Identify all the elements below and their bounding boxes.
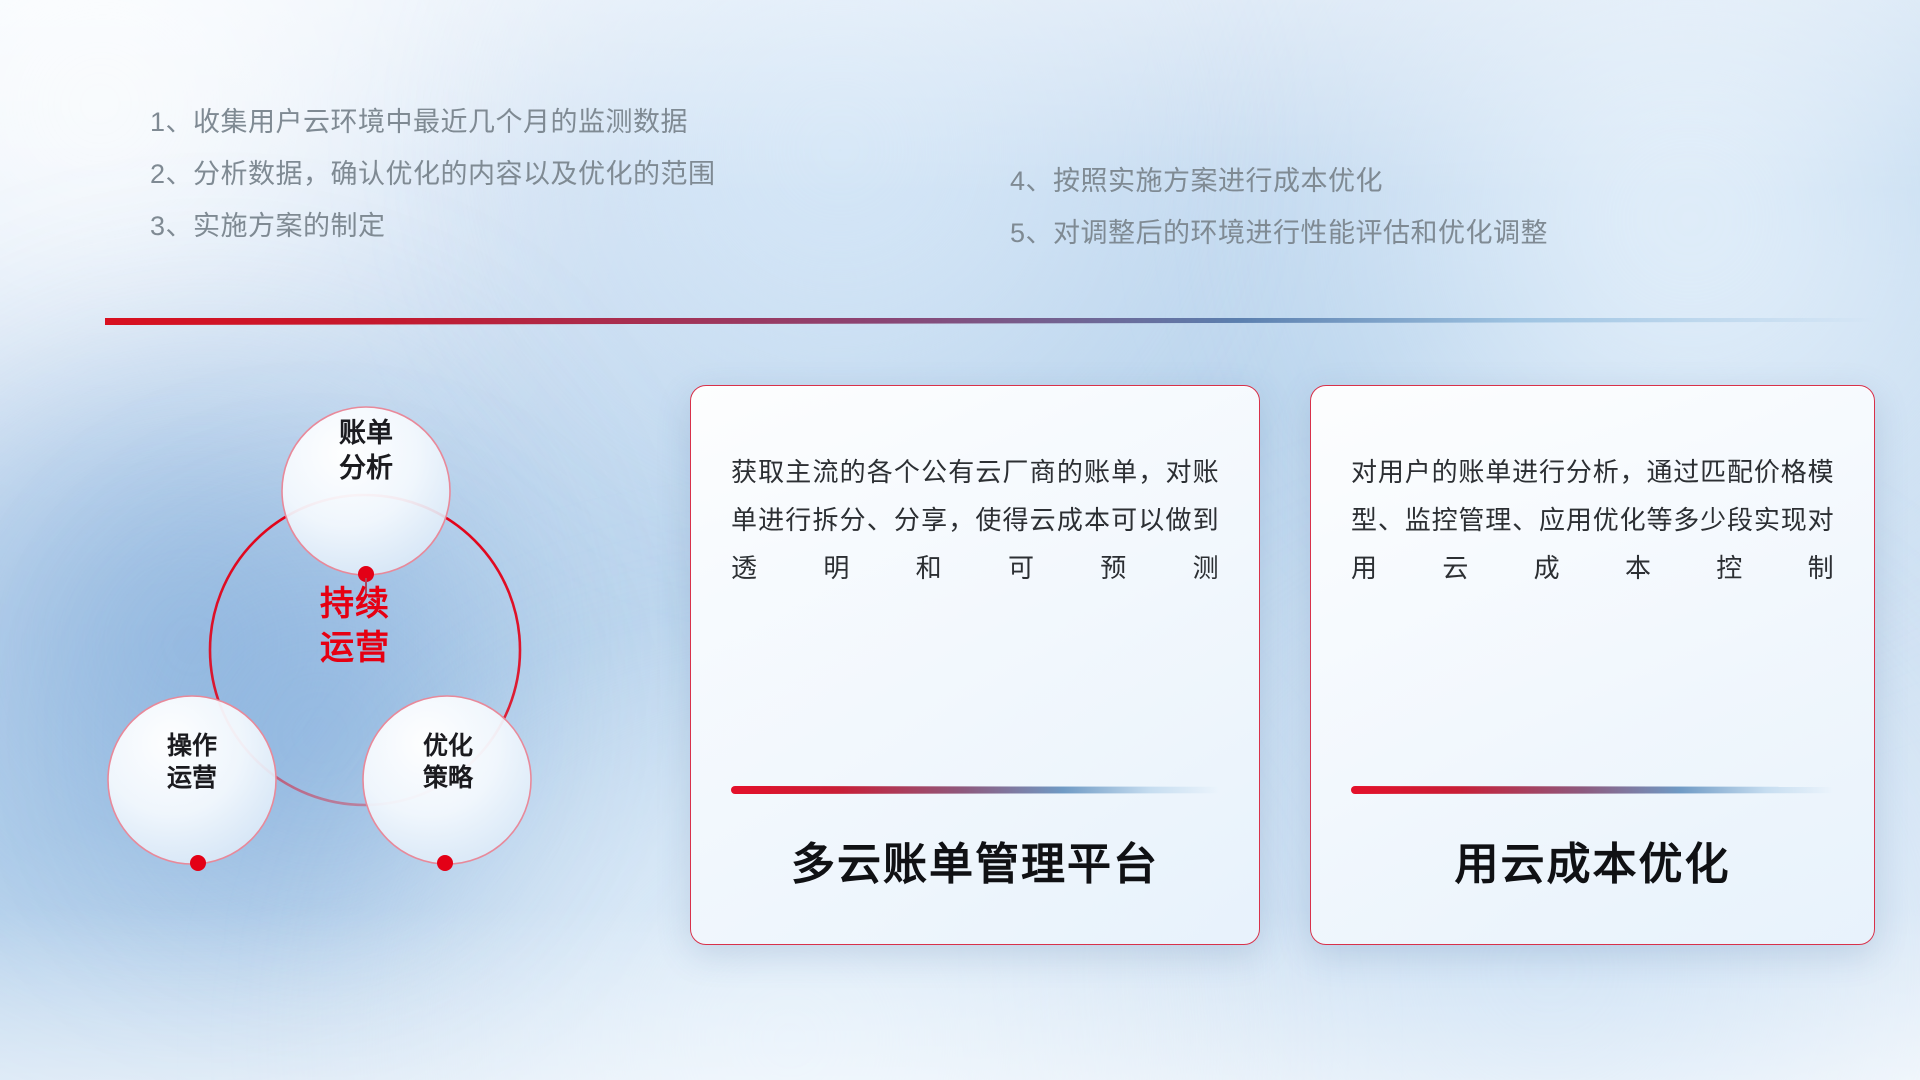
- node-label-billing-analysis: 账单 分析: [291, 416, 441, 485]
- section-divider: [105, 318, 1875, 325]
- connector-dot-bottom-right: [437, 855, 453, 871]
- card-underline: [731, 786, 1219, 794]
- node-label-optimize-policy: 优化 策略: [373, 730, 523, 794]
- bullet-list-left: 1、收集用户云环境中最近几个月的监测数据 2、分析数据，确认优化的内容以及优化的…: [150, 96, 716, 252]
- bullet-item-4: 4、按照实施方案进行成本优化: [1010, 155, 1548, 207]
- info-card-cloud-cost-optimization[interactable]: 对用户的账单进行分析，通过匹配价格模型、监控管理、应用优化等多少段实现对用云成本…: [1310, 385, 1875, 945]
- bullet-list-right: 4、按照实施方案进行成本优化 5、对调整后的环境进行性能评估和优化调整: [1010, 155, 1548, 259]
- bullet-item-1: 1、收集用户云环境中最近几个月的监测数据: [150, 96, 716, 148]
- connector-dot-bottom-left: [190, 855, 206, 871]
- card-body-text: 获取主流的各个公有云厂商的账单，对账单进行拆分、分享，使得云成本可以做到透明和可…: [731, 448, 1219, 592]
- card-title: 用云成本优化: [1351, 794, 1834, 944]
- bullet-item-5: 5、对调整后的环境进行性能评估和优化调整: [1010, 207, 1548, 259]
- info-card-multi-cloud-billing-platform[interactable]: 获取主流的各个公有云厂商的账单，对账单进行拆分、分享，使得云成本可以做到透明和可…: [690, 385, 1260, 945]
- bullet-item-3: 3、实施方案的制定: [150, 200, 716, 252]
- card-underline: [1351, 786, 1834, 794]
- card-title: 多云账单管理平台: [731, 794, 1219, 944]
- node-label-operation-ops: 操作 运营: [117, 730, 267, 794]
- divider-rule: [105, 318, 1875, 325]
- bullet-item-2: 2、分析数据，确认优化的内容以及优化的范围: [150, 148, 716, 200]
- diagram-center-label: 持续 运营: [255, 582, 455, 670]
- continuous-operation-diagram: 账单 分析 操作 运营 优化 策略 持续 运营: [95, 350, 655, 950]
- card-body-text: 对用户的账单进行分析，通过匹配价格模型、监控管理、应用优化等多少段实现对用云成本…: [1351, 448, 1834, 592]
